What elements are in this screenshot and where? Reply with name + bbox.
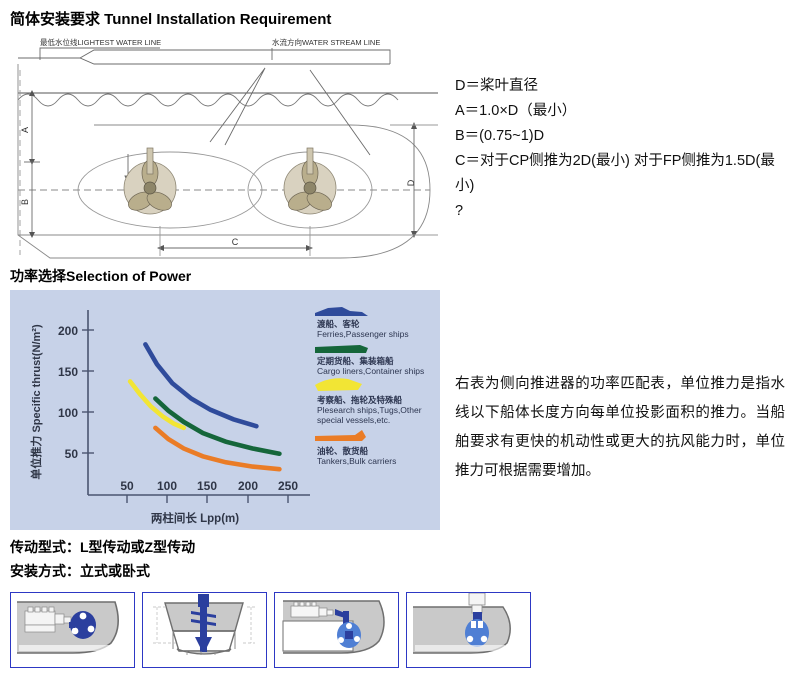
- chart-ytick-100: 100: [58, 406, 78, 420]
- thumbnail-horizontal-l-drive-engine-thruster[interactable]: [10, 592, 135, 668]
- figure-label-stream-line: 水流方向WATER STREAM LINE: [272, 37, 380, 47]
- spec-item-c: C＝对于CP侧推为2D(最小) 对于FP侧推为1.5D(最小): [455, 149, 785, 199]
- specific-thrust-chart: 200 150 100 50 50 100 150 200 250 两柱间长 L…: [10, 290, 440, 530]
- chart-xlabel: 两柱间长 Lpp(m): [151, 511, 239, 525]
- chart-xtick-200: 200: [238, 479, 258, 493]
- spec-item-d: D＝桨叶直径: [455, 74, 785, 99]
- chart-xtick-150: 150: [197, 479, 217, 493]
- chart-legend-label-cargo-en: Cargo liners,Container ships: [317, 366, 424, 376]
- tunnel-spec-list: D＝桨叶直径 A＝1.0×D（最小） B＝(0.75~1)D C＝对于CP侧推为…: [455, 74, 785, 224]
- drive-type-line: 传动型式：L型传动或Z型传动: [10, 537, 195, 557]
- tunnel-section-title: 简体安装要求 Tunnel Installation Requirement: [10, 8, 331, 29]
- chart-legend-label-research-cn: 考察船、拖轮及特殊船: [317, 395, 403, 405]
- spec-item-a: A＝1.0×D（最小）: [455, 99, 785, 124]
- spec-item-b: B＝(0.75~1)D: [455, 124, 785, 149]
- chart-legend-label-research-en2: special vessels,etc.: [317, 415, 390, 425]
- power-section-title: 功率选择Selection of Power: [10, 266, 191, 286]
- chart-xtick-50: 50: [120, 479, 134, 493]
- mount-type-line: 安装方式：立式或卧式: [10, 561, 150, 581]
- chart-xtick-100: 100: [157, 479, 177, 493]
- chart-legend-label-cargo-cn: 定期货船、集装箱船: [316, 356, 394, 366]
- thumbnail-vertical-drive-bow-thruster[interactable]: [406, 592, 531, 668]
- chart-legend-label-ferries-cn: 渡船、客轮: [317, 319, 360, 329]
- figure-dim-a: A: [20, 127, 30, 133]
- spec-item-unknown: ?: [455, 199, 785, 224]
- chart-ylabel: 单位推力 Specific thrust(N/m²): [29, 324, 43, 480]
- chart-ytick-200: 200: [58, 324, 78, 338]
- power-note-paragraph: 右表为侧向推进器的功率匹配表，单位推力是指水线以下船体长度方向每单位投影面积的推…: [455, 370, 785, 486]
- chart-legend-label-tankers-cn: 油轮、散货船: [317, 446, 369, 456]
- figure-label-water-line: 最低水位线LIGHTEST WATER LINE: [40, 37, 161, 47]
- tunnel-installation-diagram: 最低水位线LIGHTEST WATER LINE 水流方向WATER STREA…: [10, 30, 440, 260]
- thumbnail-vertical-z-drive-section[interactable]: [142, 592, 267, 668]
- figure-dim-c: C: [232, 237, 239, 247]
- figure-dim-d: D: [406, 179, 416, 186]
- chart-legend-label-ferries-en: Ferries,Passenger ships: [317, 329, 409, 339]
- thumbnail-horizontal-l-drive-hull-section[interactable]: [274, 592, 399, 668]
- chart-xtick-250: 250: [278, 479, 298, 493]
- chart-legend-label-tankers-en: Tankers,Bulk carriers: [317, 456, 396, 466]
- figure-dim-b: B: [20, 199, 30, 205]
- chart-ytick-50: 50: [65, 447, 79, 461]
- chart-ytick-150: 150: [58, 365, 78, 379]
- installation-thumbnail-row: [10, 592, 540, 670]
- chart-legend-label-research-en1: Plesearch ships,Tugs,Other: [317, 405, 422, 415]
